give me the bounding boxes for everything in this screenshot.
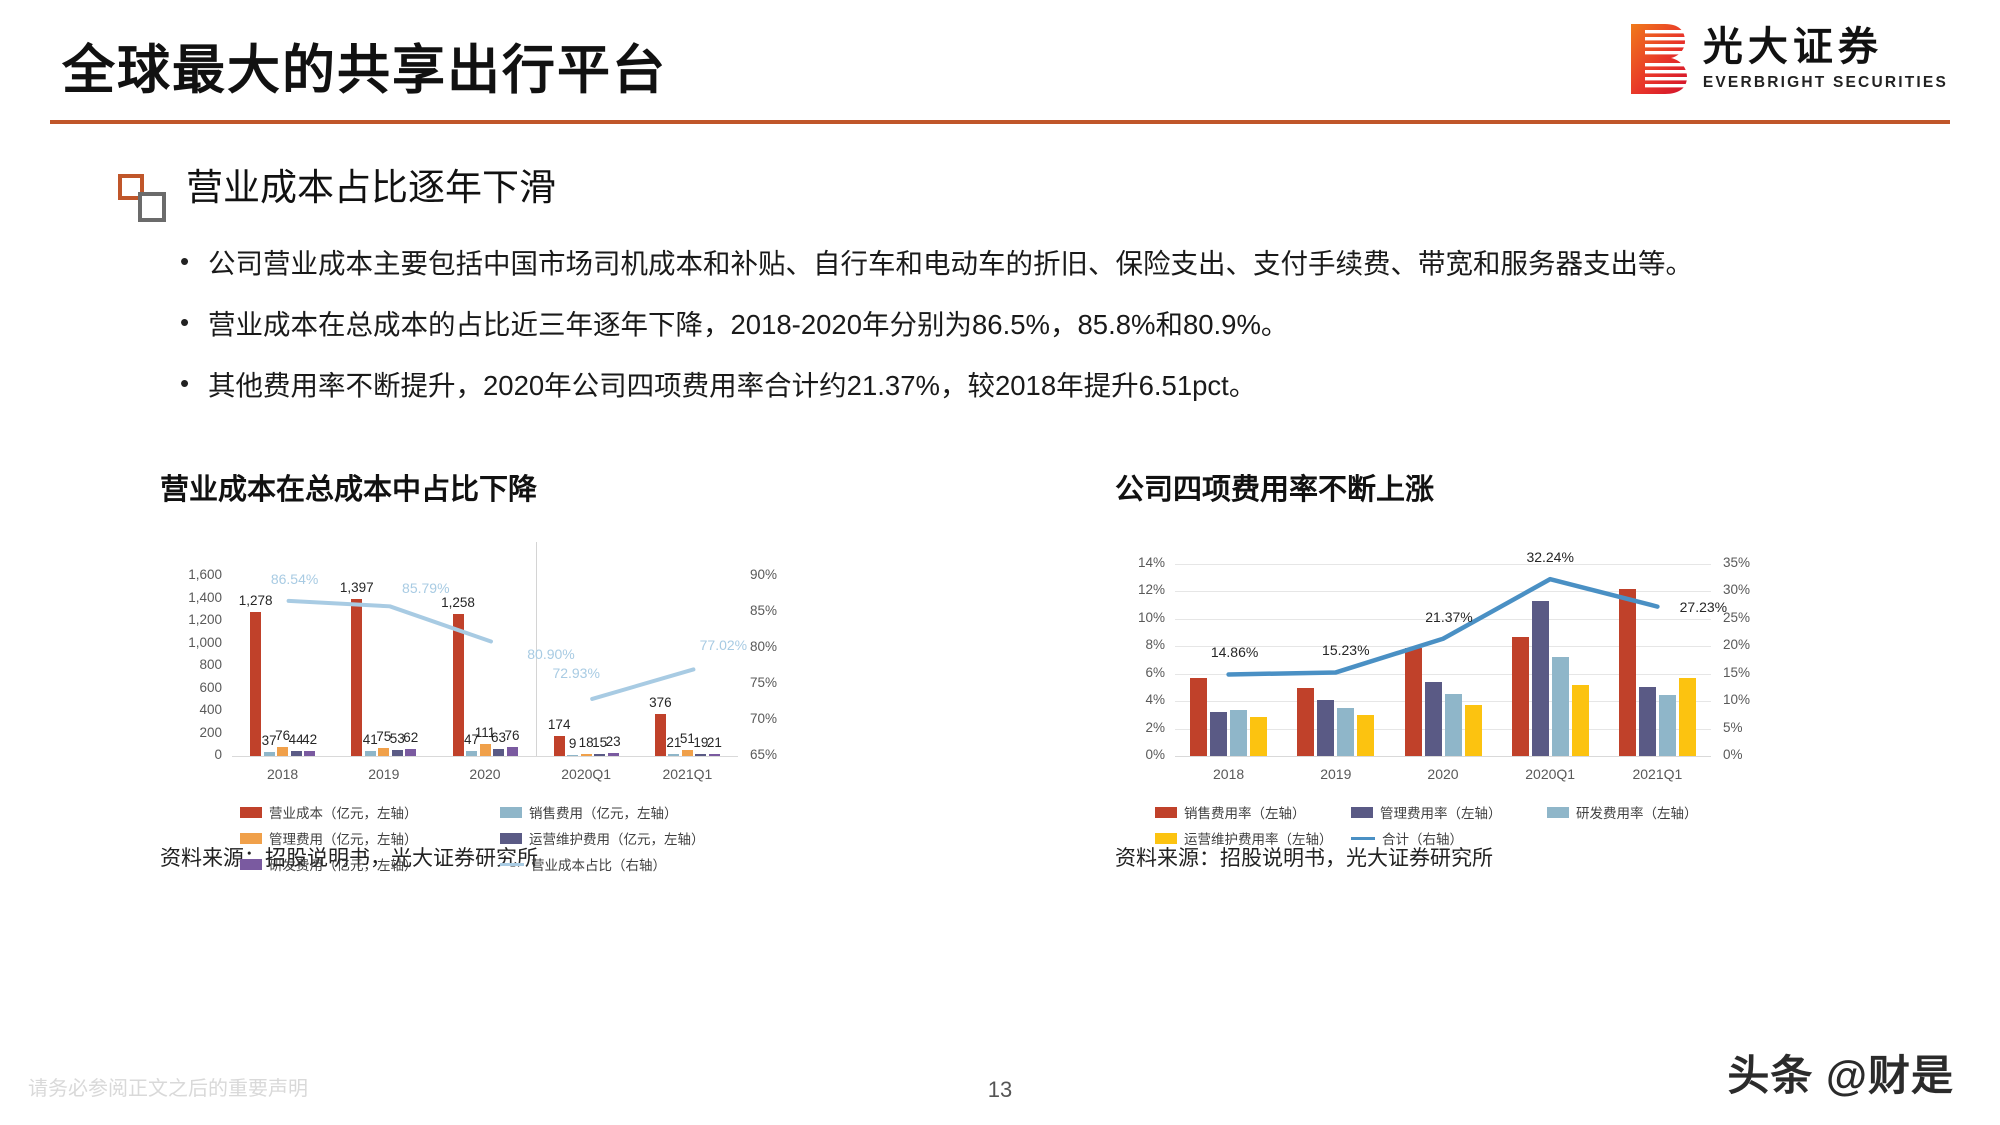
line-point-label: 32.24%: [1505, 549, 1595, 565]
legend-item: 销售费用（亿元，左轴）: [500, 802, 678, 822]
bar: [1572, 685, 1589, 756]
legend-line-swatch: [1351, 837, 1375, 840]
bar: [1619, 589, 1636, 756]
legend-label: 运营维护费用（亿元，左轴）: [529, 828, 705, 848]
x-axis-category-label: 2020Q1: [1490, 766, 1610, 782]
legend-swatch: [500, 807, 522, 818]
y-axis-tick-left: 400: [160, 702, 222, 717]
line-point-label: 72.93%: [531, 665, 621, 681]
y-axis-tick-left: 10%: [1115, 610, 1165, 625]
legend-label: 营业成本占比（右轴）: [531, 854, 666, 874]
legend-item: 运营维护费用（亿元，左轴）: [500, 828, 705, 848]
y-axis-tick-right: 20%: [1723, 637, 1750, 652]
line-point-label: 86.54%: [250, 571, 340, 587]
bar-value-label: 376: [639, 695, 682, 710]
legend-swatch: [1351, 807, 1373, 818]
y-axis-tick-right: 15%: [1723, 665, 1750, 680]
bar: [1317, 700, 1334, 756]
legend-item: 合计（右轴）: [1351, 828, 1463, 848]
bar-value-label: 23: [592, 734, 635, 749]
header-divider: [50, 120, 1950, 124]
y-axis-tick-right: 5%: [1723, 720, 1743, 735]
logo-name-cn: 光大证券: [1703, 27, 1948, 67]
bar: [594, 754, 605, 756]
bar: [1659, 695, 1676, 756]
bar: [1512, 637, 1529, 756]
line-point-label: 85.79%: [381, 580, 471, 596]
bar: [709, 754, 720, 756]
bullet-marker: •: [180, 305, 208, 340]
bar: [480, 744, 491, 756]
y-axis-tick-left: 200: [160, 725, 222, 740]
bar: [668, 754, 679, 756]
legend-item: 营业成本占比（右轴）: [500, 854, 666, 874]
y-axis-tick-left: 2%: [1115, 720, 1165, 735]
right-chart-panel: 公司四项费用率不断上涨 14%12%10%8%6%4%2%0%35%30%25%…: [1115, 466, 1905, 872]
bar: [1639, 687, 1656, 756]
bullet-text: 公司营业成本主要包括中国市场司机成本和补贴、自行车和电动车的折旧、保险支出、支付…: [208, 244, 1693, 283]
section-title: 营业成本占比逐年下滑: [186, 168, 556, 209]
legend-label: 研发费用（亿元，左轴）: [269, 854, 418, 874]
page-number: 13: [0, 1077, 2000, 1103]
y-axis-tick-left: 800: [160, 657, 222, 672]
bar: [392, 750, 403, 756]
bar-value-label: 21: [693, 735, 736, 750]
line-point-label: 77.02%: [678, 637, 768, 653]
everbright-e-icon: [1629, 22, 1687, 96]
bar: [608, 753, 619, 756]
legend-swatch: [240, 807, 262, 818]
legend-item: 研发费用（亿元，左轴）: [240, 854, 418, 874]
slide: 全球最大的共享出行平台: [0, 0, 2000, 1125]
y-axis-tick-right: 75%: [750, 675, 777, 690]
legend-label: 营业成本（亿元，左轴）: [269, 802, 418, 822]
двух-squares-icon: [118, 174, 174, 226]
y-axis-tick-right: 65%: [750, 747, 777, 762]
legend-item: 管理费用率（左轴）: [1351, 802, 1502, 822]
y-axis-tick-right: 90%: [750, 567, 777, 582]
list-item: • 公司营业成本主要包括中国市场司机成本和补贴、自行车和电动车的折旧、保险支出、…: [180, 244, 1820, 283]
x-axis-category-label: 2021Q1: [1597, 766, 1717, 782]
bar: [291, 751, 302, 756]
bar: [405, 749, 416, 756]
y-axis-tick-right: 35%: [1723, 555, 1750, 570]
bar: [1425, 682, 1442, 756]
y-axis-tick-right: 70%: [750, 711, 777, 726]
line-point-label: 80.90%: [506, 646, 596, 662]
line-point-label: 21.37%: [1404, 609, 1494, 625]
x-axis-category-label: 2019: [1276, 766, 1396, 782]
gridline: [1175, 564, 1711, 565]
line-point-label: 14.86%: [1190, 644, 1280, 660]
y-axis-tick-right: 85%: [750, 603, 777, 618]
bar: [695, 754, 706, 756]
bar: [1230, 710, 1247, 756]
bar-value-label: 42: [288, 732, 331, 747]
page-title: 全球最大的共享出行平台: [62, 28, 667, 104]
legend-item: 运营维护费用率（左轴）: [1155, 828, 1333, 848]
bar-value-label: 76: [491, 728, 534, 743]
y-axis-tick-left: 0: [160, 747, 222, 762]
legend-label: 销售费用率（左轴）: [1184, 802, 1306, 822]
bar: [378, 748, 389, 756]
bar: [581, 754, 592, 756]
bar: [682, 750, 693, 756]
section-heading: 营业成本占比逐年下滑: [118, 168, 556, 226]
legend-swatch: [240, 859, 262, 870]
bar-value-label: 1,278: [234, 593, 277, 608]
bar: [1337, 708, 1354, 756]
bar: [1465, 705, 1482, 756]
y-axis-tick-left: 6%: [1115, 665, 1165, 680]
left-chart-panel: 营业成本在总成本中占比下降 1,6001,4001,2001,000800600…: [160, 466, 920, 872]
legend-label: 管理费用率（左轴）: [1380, 802, 1502, 822]
legend-item: 营业成本（亿元，左轴）: [240, 802, 418, 822]
y-axis-tick-left: 1,000: [160, 635, 222, 650]
square-gray-icon: [138, 192, 166, 222]
axis-baseline: [1175, 756, 1711, 757]
legend-label: 销售费用（亿元，左轴）: [529, 802, 678, 822]
bar: [1357, 715, 1374, 756]
bar: [304, 751, 315, 756]
left-chart-title: 营业成本在总成本中占比下降: [160, 466, 920, 508]
legend-label: 研发费用率（左轴）: [1576, 802, 1698, 822]
bar: [567, 755, 578, 756]
bar: [1297, 688, 1314, 756]
bar: [1532, 601, 1549, 756]
bullet-list: • 公司营业成本主要包括中国市场司机成本和补贴、自行车和电动车的折旧、保险支出、…: [180, 244, 1820, 427]
legend-label: 管理费用（亿元，左轴）: [269, 828, 418, 848]
legend-label: 运营维护费用率（左轴）: [1184, 828, 1333, 848]
legend-swatch: [500, 833, 522, 844]
bar: [1405, 648, 1422, 756]
y-axis-tick-right: 30%: [1723, 582, 1750, 597]
legend-swatch: [240, 833, 262, 844]
bullet-text: 其他费用率不断提升，2020年公司四项费用率合计约21.37%，较2018年提升…: [208, 366, 1256, 405]
list-item: • 其他费用率不断提升，2020年公司四项费用率合计约21.37%，较2018年…: [180, 366, 1820, 405]
bar: [1445, 694, 1462, 756]
legend-item: 研发费用率（左轴）: [1547, 802, 1698, 822]
bar: [264, 752, 275, 756]
bar: [1250, 717, 1267, 756]
y-axis-tick-left: 0%: [1115, 747, 1165, 762]
cost-structure-chart: 1,6001,4001,2001,000800600400200090%85%8…: [160, 542, 920, 802]
x-axis-category-label: 2021Q1: [627, 766, 747, 782]
x-axis-category-label: 2018: [1169, 766, 1289, 782]
watermark-text: 头条 @财是: [1727, 1042, 1954, 1103]
right-chart-title: 公司四项费用率不断上涨: [1115, 466, 1905, 508]
legend-line-swatch: [500, 863, 524, 866]
expense-ratio-chart: 14%12%10%8%6%4%2%0%35%30%25%20%15%10%5%0…: [1115, 542, 1905, 802]
bar-value-label: 1,397: [335, 580, 378, 595]
y-axis-tick-right: 10%: [1723, 692, 1750, 707]
y-axis-tick-left: 12%: [1115, 582, 1165, 597]
y-axis-tick-left: 1,600: [160, 567, 222, 582]
legend-label: 合计（右轴）: [1382, 828, 1463, 848]
y-axis-tick-left: 1,400: [160, 590, 222, 605]
axis-baseline: [232, 756, 738, 757]
legend-swatch: [1547, 807, 1569, 818]
legend-swatch: [1155, 807, 1177, 818]
bar-value-label: 1,258: [437, 595, 480, 610]
y-axis-tick-left: 1,200: [160, 612, 222, 627]
bar-value-label: 62: [389, 730, 432, 745]
bar: [1679, 678, 1696, 756]
bullet-marker: •: [180, 366, 208, 401]
y-axis-tick-left: 600: [160, 680, 222, 695]
list-item: • 营业成本在总成本的占比近三年逐年下降，2018-2020年分别为86.5%，…: [180, 305, 1820, 344]
x-axis-category-label: 2020: [1383, 766, 1503, 782]
watermark: 头条 @财是: [1727, 1042, 1954, 1103]
bar: [507, 747, 518, 756]
y-axis-tick-left: 14%: [1115, 555, 1165, 570]
y-axis-tick-left: 4%: [1115, 692, 1165, 707]
legend-swatch: [1155, 833, 1177, 844]
bar: [1552, 657, 1569, 756]
bullet-text: 营业成本在总成本的占比近三年逐年下降，2018-2020年分别为86.5%，85…: [208, 305, 1288, 344]
legend-item: 管理费用（亿元，左轴）: [240, 828, 418, 848]
bar-value-label: 174: [538, 717, 581, 732]
bar: [365, 751, 376, 756]
bar: [277, 747, 288, 756]
logo-name-en: EVERBRIGHT SECURITIES: [1703, 74, 1948, 92]
bar: [466, 751, 477, 756]
bar: [1210, 712, 1227, 756]
bar: [1190, 678, 1207, 756]
y-axis-tick-right: 0%: [1723, 747, 1743, 762]
legend-item: 销售费用率（左轴）: [1155, 802, 1306, 822]
line-point-label: 15.23%: [1301, 642, 1391, 658]
bar: [493, 749, 504, 756]
line-point-label: 27.23%: [1658, 599, 1748, 615]
brand-logo: 光大证券 EVERBRIGHT SECURITIES: [1629, 22, 1948, 96]
y-axis-tick-left: 8%: [1115, 637, 1165, 652]
bullet-marker: •: [180, 244, 208, 279]
